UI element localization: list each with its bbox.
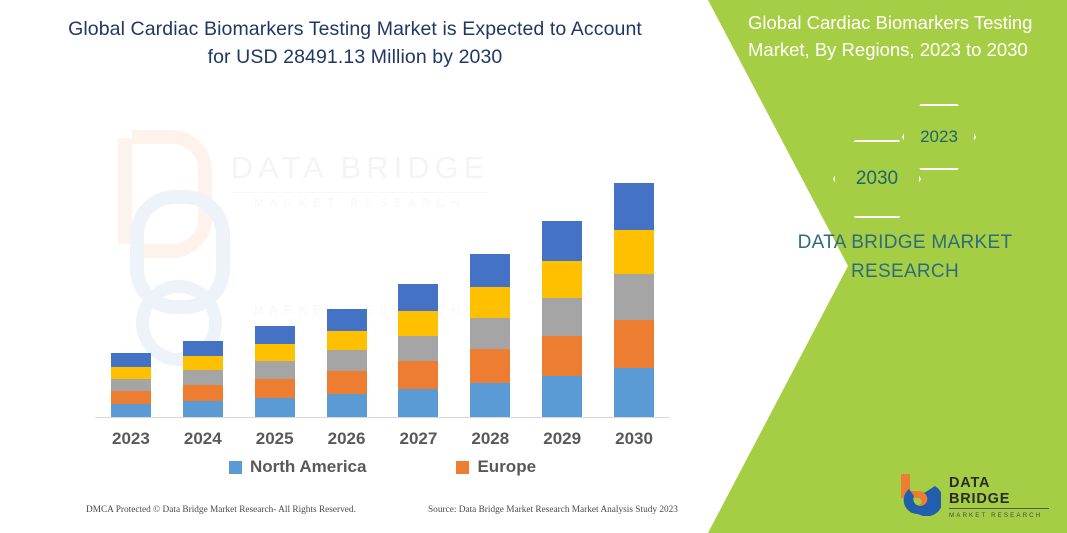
bar-2026 [327,309,367,418]
bar-segment-2027-europe [398,361,438,389]
bar-segment-2027-series-3 [398,336,438,362]
legend-item-north-america[interactable]: North America [229,457,367,477]
bar-segment-2024-north-america [183,401,223,418]
hex-badge-2023-label: 2023 [920,127,958,147]
databridge-logo-sub: MARKET RESEARCH [949,512,1049,519]
bar-segment-2025-series-3 [255,361,295,379]
bar-2027 [398,284,438,418]
bar-segment-2028-series-3 [470,318,510,350]
databridge-logo-mark-icon [895,472,941,516]
x-tick-2027: 2027 [398,429,438,449]
footer-copyright: DMCA Protected © Data Bridge Market Rese… [86,505,356,515]
bar-segment-2026-series-4 [327,331,367,351]
databridge-logo-text: DATA BRIDGE MARKET RESEARCH [949,475,1049,519]
bar-segment-2029-series-3 [542,298,582,336]
bar-segment-2024-series-3 [183,370,223,385]
x-tick-2028: 2028 [470,429,510,449]
legend-label: North America [250,457,367,477]
bar-segment-2028-north-america [470,383,510,418]
page-title: Global Cardiac Biomarkers Testing Market… [60,16,650,71]
bar-segment-2024-series-4 [183,356,223,370]
chart-legend: North AmericaEurope [95,452,670,482]
bar-segment-2028-series-5 [470,254,510,287]
x-axis-line [95,417,670,418]
bar-group [95,100,670,418]
bar-2029 [542,221,582,418]
databridge-logo-main: DATA BRIDGE [949,475,1049,509]
bar-segment-2026-europe [327,371,367,394]
bar-2024 [183,341,223,418]
panel-brand-text: DATA BRIDGE MARKET RESEARCH [760,228,1050,287]
bar-segment-2026-series-3 [327,350,367,371]
hex-badge-2030-label: 2030 [856,168,898,190]
panel-title: Global Cardiac Biomarkers Testing Market… [748,10,1048,64]
stacked-bar-chart [95,100,670,418]
bar-2023 [111,353,151,418]
bar-segment-2025-north-america [255,398,295,418]
bar-segment-2026-series-5 [327,309,367,331]
x-tick-2025: 2025 [255,429,295,449]
x-tick-2026: 2026 [327,429,367,449]
bar-segment-2025-europe [255,379,295,398]
bar-segment-2023-europe [111,391,151,404]
bar-segment-2024-series-5 [183,341,223,357]
bar-segment-2029-series-4 [542,261,582,298]
legend-swatch-icon [456,461,469,474]
bar-segment-2023-series-3 [111,379,151,391]
bar-segment-2024-europe [183,385,223,401]
databridge-logo: DATA BRIDGE MARKET RESEARCH [895,472,1040,518]
bar-segment-2029-europe [542,336,582,377]
footer: DMCA Protected © Data Bridge Market Rese… [0,505,700,527]
x-tick-2029: 2029 [542,429,582,449]
bar-segment-2029-north-america [542,376,582,418]
legend-label: Europe [477,457,536,477]
bar-segment-2025-series-5 [255,326,295,345]
bar-segment-2023-series-4 [111,367,151,379]
bar-segment-2023-series-5 [111,353,151,367]
x-tick-2023: 2023 [111,429,151,449]
x-tick-2024: 2024 [183,429,223,449]
infographic-root: Global Cardiac Biomarkers Testing Market… [0,0,1067,533]
legend-item-europe[interactable]: Europe [456,457,536,477]
bar-segment-2028-series-4 [470,287,510,318]
bar-segment-2029-series-5 [542,221,582,261]
bar-segment-2025-series-4 [255,344,295,361]
bar-segment-2027-north-america [398,389,438,418]
x-axis-labels: 20232024202520262027202820292030 [95,425,670,453]
bar-segment-2027-series-4 [398,311,438,336]
chart-panel: Global Cardiac Biomarkers Testing Market… [0,0,700,533]
bar-2028 [470,254,510,418]
bar-2025 [255,326,295,418]
bar-segment-2027-series-5 [398,284,438,311]
bar-segment-2023-north-america [111,404,151,418]
bar-segment-2028-europe [470,349,510,383]
bar-segment-2026-north-america [327,394,367,418]
legend-swatch-icon [229,461,242,474]
